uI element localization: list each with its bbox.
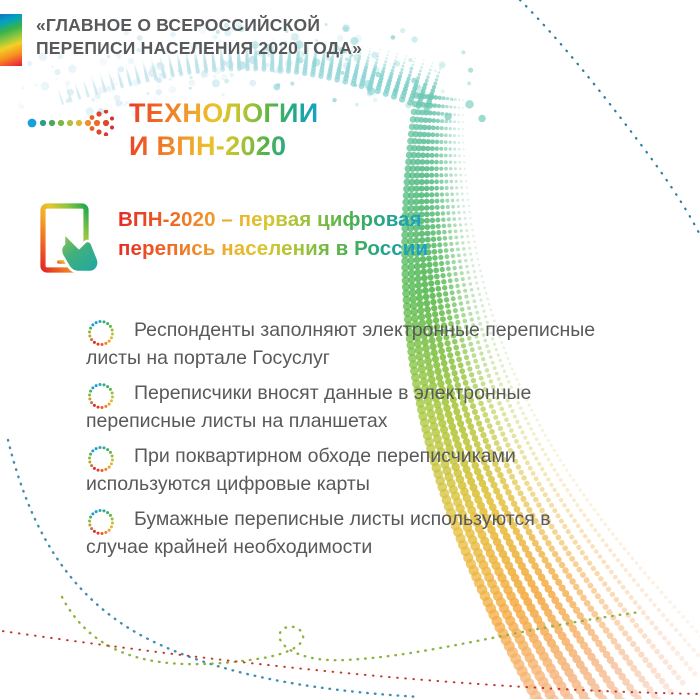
dotted-arrow-right-icon: [27, 110, 115, 136]
red-dotted-line: [0, 630, 700, 694]
header: «ГЛАВНОЕ О ВСЕРОССИЙСКОЙ ПЕРЕПИСИ НАСЕЛЕ…: [0, 14, 362, 66]
tablet-with-pointing-hand-icon: [40, 203, 102, 275]
list-item: При поквартирном обходе переписчиками ис…: [86, 442, 596, 498]
section-title: ТЕХНОЛОГИИ И ВПН-2020: [129, 97, 318, 163]
highlight-text: ВПН-2020 – первая цифровая перепись насе…: [118, 205, 428, 263]
list-item-label: Респонденты заполняют электронные перепи…: [86, 316, 596, 372]
dotted-circle-bullet-icon: [86, 318, 116, 348]
list-item-label: При поквартирном обходе переписчиками ис…: [86, 442, 596, 498]
dotted-circle-bullet-icon: [86, 507, 116, 537]
dotted-circle-bullet-icon: [86, 381, 116, 411]
bullet-list: Респонденты заполняют электронные перепи…: [86, 316, 596, 568]
infographic-page: «ГЛАВНОЕ О ВСЕРОССИЙСКОЙ ПЕРЕПИСИ НАСЕЛЕ…: [0, 0, 700, 699]
highlight-block: ВПН-2020 – первая цифровая перепись насе…: [40, 201, 428, 275]
page-title: «ГЛАВНОЕ О ВСЕРОССИЙСКОЙ ПЕРЕПИСИ НАСЕЛЕ…: [36, 14, 362, 60]
list-item: Респонденты заполняют электронные перепи…: [86, 316, 596, 372]
list-item-label: Бумажные переписные листы используются в…: [86, 505, 596, 561]
list-item-label: Переписчики вносят данные в электронные …: [86, 379, 596, 435]
dotted-circle-bullet-icon: [86, 444, 116, 474]
top-right-dotted-curve: [520, 0, 700, 235]
brand-logo-icon: [0, 14, 22, 66]
list-item: Бумажные переписные листы используются в…: [86, 505, 596, 561]
green-dotted-loop-curve: [62, 597, 640, 664]
list-item: Переписчики вносят данные в электронные …: [86, 379, 596, 435]
section-title-row: ТЕХНОЛОГИИ И ВПН-2020: [27, 97, 318, 163]
